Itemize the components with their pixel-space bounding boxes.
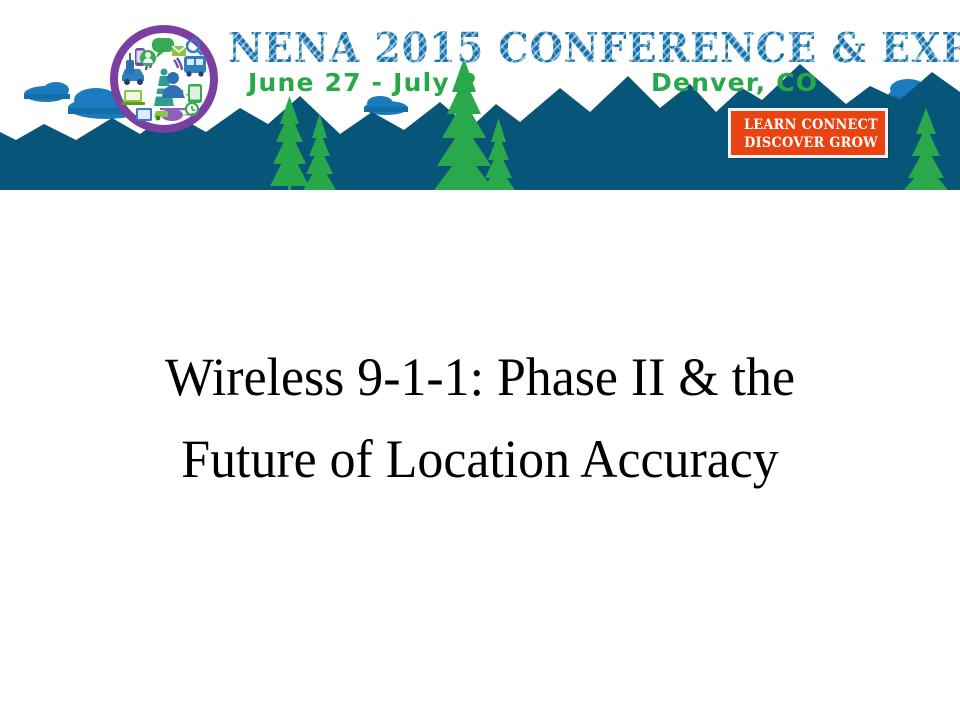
presentation-slide: 9-1-1 [0, 0, 960, 720]
slide-title-line-2: Future of Location Accuracy [77, 418, 883, 500]
sign-text-line-1: LEARN CONNECT [737, 117, 884, 133]
slide-title: Wireless 9-1-1: Phase II & the Future of… [60, 336, 900, 500]
conference-city: Denver, CO [651, 68, 818, 97]
nena-logo-svg: 9-1-1 [110, 24, 218, 134]
learn-connect-sign: LEARN CONNECT DISCOVER GROW [728, 108, 888, 158]
logo-envelope-icon [172, 46, 186, 56]
logo-group-icon [140, 50, 156, 66]
conference-title: NENA 2015 CONFERENCE & EXPO [228, 26, 960, 70]
nena-logo: 9-1-1 [110, 24, 218, 134]
logo-laptop-icon [121, 90, 145, 105]
logo-map-icon [136, 108, 152, 121]
conference-banner: 9-1-1 [0, 0, 960, 190]
conference-dates: June 27 - July 2 [248, 68, 478, 97]
slide-title-line-1: Wireless 9-1-1: Phase II & the [77, 336, 883, 418]
sign-text-line-2: DISCOVER GROW [737, 135, 884, 151]
sign-board: LEARN CONNECT DISCOVER GROW [728, 108, 888, 158]
logo-tablet-icon [188, 84, 202, 103]
